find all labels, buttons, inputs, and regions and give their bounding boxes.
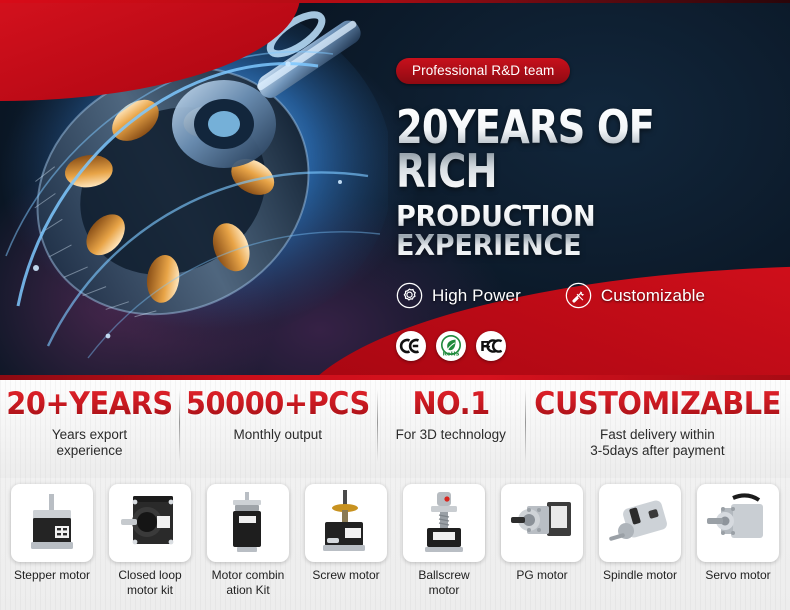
product-name: Closed loopmotor kit (103, 568, 198, 598)
product-thumbnail[interactable] (109, 484, 191, 562)
product-item[interactable]: Motor combination Kit (201, 484, 296, 598)
product-item[interactable]: Servo motor (691, 484, 786, 583)
spindle-motor-photo (605, 490, 675, 556)
stat-number: 20+YEARS (6, 388, 172, 421)
wrench-screwdriver-icon (565, 282, 592, 309)
stat-description: Fast delivery within3-5days after paymen… (525, 427, 790, 461)
ballscrew-motor-photo (409, 490, 479, 556)
stat-item: CUSTOMIZABLE Fast delivery within3-5days… (525, 380, 790, 478)
closed-loop-motor-photo (115, 490, 185, 556)
motor-combination-photo (213, 490, 283, 556)
hero-content: Professional R&D team 20YEARS OF RICH PR… (396, 58, 786, 361)
stat-description: Years exportexperience (0, 427, 179, 461)
product-name: PG motor (495, 568, 590, 583)
product-name: Screw motor (299, 568, 394, 583)
stat-number: 50000+PCS (186, 388, 370, 421)
hero-headline: 20YEARS OF RICH (396, 106, 759, 193)
hero-feature-list: High Power Customizable (396, 282, 786, 309)
product-name: Stepper motor (5, 568, 100, 583)
stepper-motor-photo (17, 490, 87, 556)
stat-number: NO.1 (382, 388, 520, 421)
feature-customizable: Customizable (565, 282, 705, 309)
product-name: Ballscrewmotor (397, 568, 492, 598)
ce-mark-badge (396, 331, 426, 361)
product-item[interactable]: PG motor (495, 484, 590, 583)
product-thumbnail[interactable] (305, 484, 387, 562)
product-item[interactable]: Ballscrewmotor (397, 484, 492, 598)
stat-item: 20+YEARS Years exportexperience (0, 380, 179, 478)
svg-text:RoHS: RoHS (443, 352, 460, 358)
product-item[interactable]: Spindle motor (593, 484, 688, 583)
product-item[interactable]: Stepper motor (5, 484, 100, 583)
product-thumbnail[interactable] (207, 484, 289, 562)
product-thumbnail[interactable] (403, 484, 485, 562)
stats-bar: 20+YEARS Years exportexperience 50000+PC… (0, 380, 790, 478)
certification-badges: RoHS F (396, 331, 786, 361)
promo-banner: Professional R&D team 20YEARS OF RICH PR… (0, 0, 790, 610)
rd-team-badge: Professional R&D team (396, 58, 570, 84)
product-thumbnail[interactable] (599, 484, 681, 562)
stat-description: Monthly output (179, 427, 377, 444)
product-name: Motor combination Kit (201, 568, 296, 598)
hero-top-accent-line (0, 0, 790, 3)
feature-high-power: High Power (396, 282, 521, 309)
stat-item: 50000+PCS Monthly output (179, 380, 377, 478)
product-thumbnail[interactable] (501, 484, 583, 562)
pg-motor-photo (507, 490, 577, 556)
hero-subheadline: PRODUCTION EXPERIENCE (396, 203, 767, 260)
hero-section: Professional R&D team 20YEARS OF RICH PR… (0, 0, 790, 380)
feature-label: High Power (432, 286, 521, 306)
gear-icon (396, 282, 423, 309)
product-thumbnail-row: Stepper motor Closed loopmotor kit (0, 478, 790, 610)
product-name: Servo motor (691, 568, 786, 583)
rohs-badge: RoHS (436, 331, 466, 361)
feature-label: Customizable (601, 286, 705, 306)
fcc-badge: F (476, 331, 506, 361)
stat-item: NO.1 For 3D technology (377, 380, 525, 478)
servo-motor-photo (703, 490, 773, 556)
product-item[interactable]: Screw motor (299, 484, 394, 583)
stat-number: CUSTOMIZABLE (534, 388, 781, 421)
stat-description: For 3D technology (377, 427, 525, 444)
product-thumbnail[interactable] (11, 484, 93, 562)
product-item[interactable]: Closed loopmotor kit (103, 484, 198, 598)
product-thumbnail[interactable] (697, 484, 779, 562)
product-name: Spindle motor (593, 568, 688, 583)
screw-motor-photo (311, 490, 381, 556)
